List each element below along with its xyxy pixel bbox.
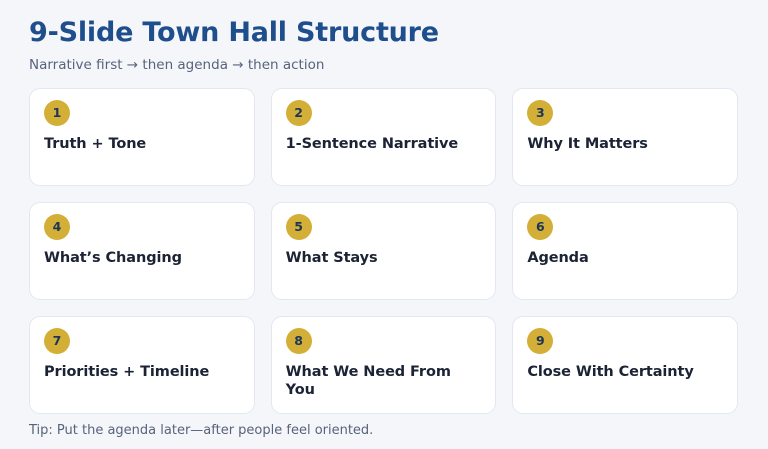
footer-tip: Tip: Put the agenda later—after people f… bbox=[29, 423, 738, 439]
slide-card-title: 1-Sentence Narrative bbox=[286, 135, 458, 154]
slide-number-badge: 4 bbox=[44, 214, 70, 240]
slide-card[interactable]: 5 What Stays bbox=[271, 202, 497, 300]
slide-card-title: What Stays bbox=[286, 249, 378, 268]
slide-structure-page: 9-Slide Town Hall Structure Narrative fi… bbox=[0, 0, 768, 449]
slide-number-badge: 3 bbox=[527, 100, 553, 126]
slide-number-badge: 9 bbox=[527, 328, 553, 354]
slide-card-title: What We Need From You bbox=[286, 363, 482, 400]
slide-number-badge: 5 bbox=[286, 214, 312, 240]
slide-card[interactable]: 9 Close With Certainty bbox=[512, 316, 738, 414]
slide-card[interactable]: 4 What’s Changing bbox=[29, 202, 255, 300]
slide-card-title: Close With Certainty bbox=[527, 363, 693, 382]
slide-card[interactable]: 1 Truth + Tone bbox=[29, 88, 255, 186]
slide-number-badge: 1 bbox=[44, 100, 70, 126]
slide-card[interactable]: 6 Agenda bbox=[512, 202, 738, 300]
slide-card-title: Priorities + Timeline bbox=[44, 363, 209, 382]
slide-card-grid: 1 Truth + Tone 2 1-Sentence Narrative 3 … bbox=[29, 88, 738, 414]
slide-number-badge: 7 bbox=[44, 328, 70, 354]
slide-card[interactable]: 7 Priorities + Timeline bbox=[29, 316, 255, 414]
slide-card[interactable]: 8 What We Need From You bbox=[271, 316, 497, 414]
page-subtitle: Narrative first → then agenda → then act… bbox=[29, 57, 738, 73]
slide-number-badge: 6 bbox=[527, 214, 553, 240]
slide-card-title: Why It Matters bbox=[527, 135, 647, 154]
slide-card[interactable]: 3 Why It Matters bbox=[512, 88, 738, 186]
slide-card-title: Truth + Tone bbox=[44, 135, 146, 154]
slide-card-title: Agenda bbox=[527, 249, 588, 268]
slide-card[interactable]: 2 1-Sentence Narrative bbox=[271, 88, 497, 186]
slide-card-title: What’s Changing bbox=[44, 249, 182, 268]
slide-number-badge: 2 bbox=[286, 100, 312, 126]
slide-number-badge: 8 bbox=[286, 328, 312, 354]
page-title: 9-Slide Town Hall Structure bbox=[29, 18, 738, 48]
